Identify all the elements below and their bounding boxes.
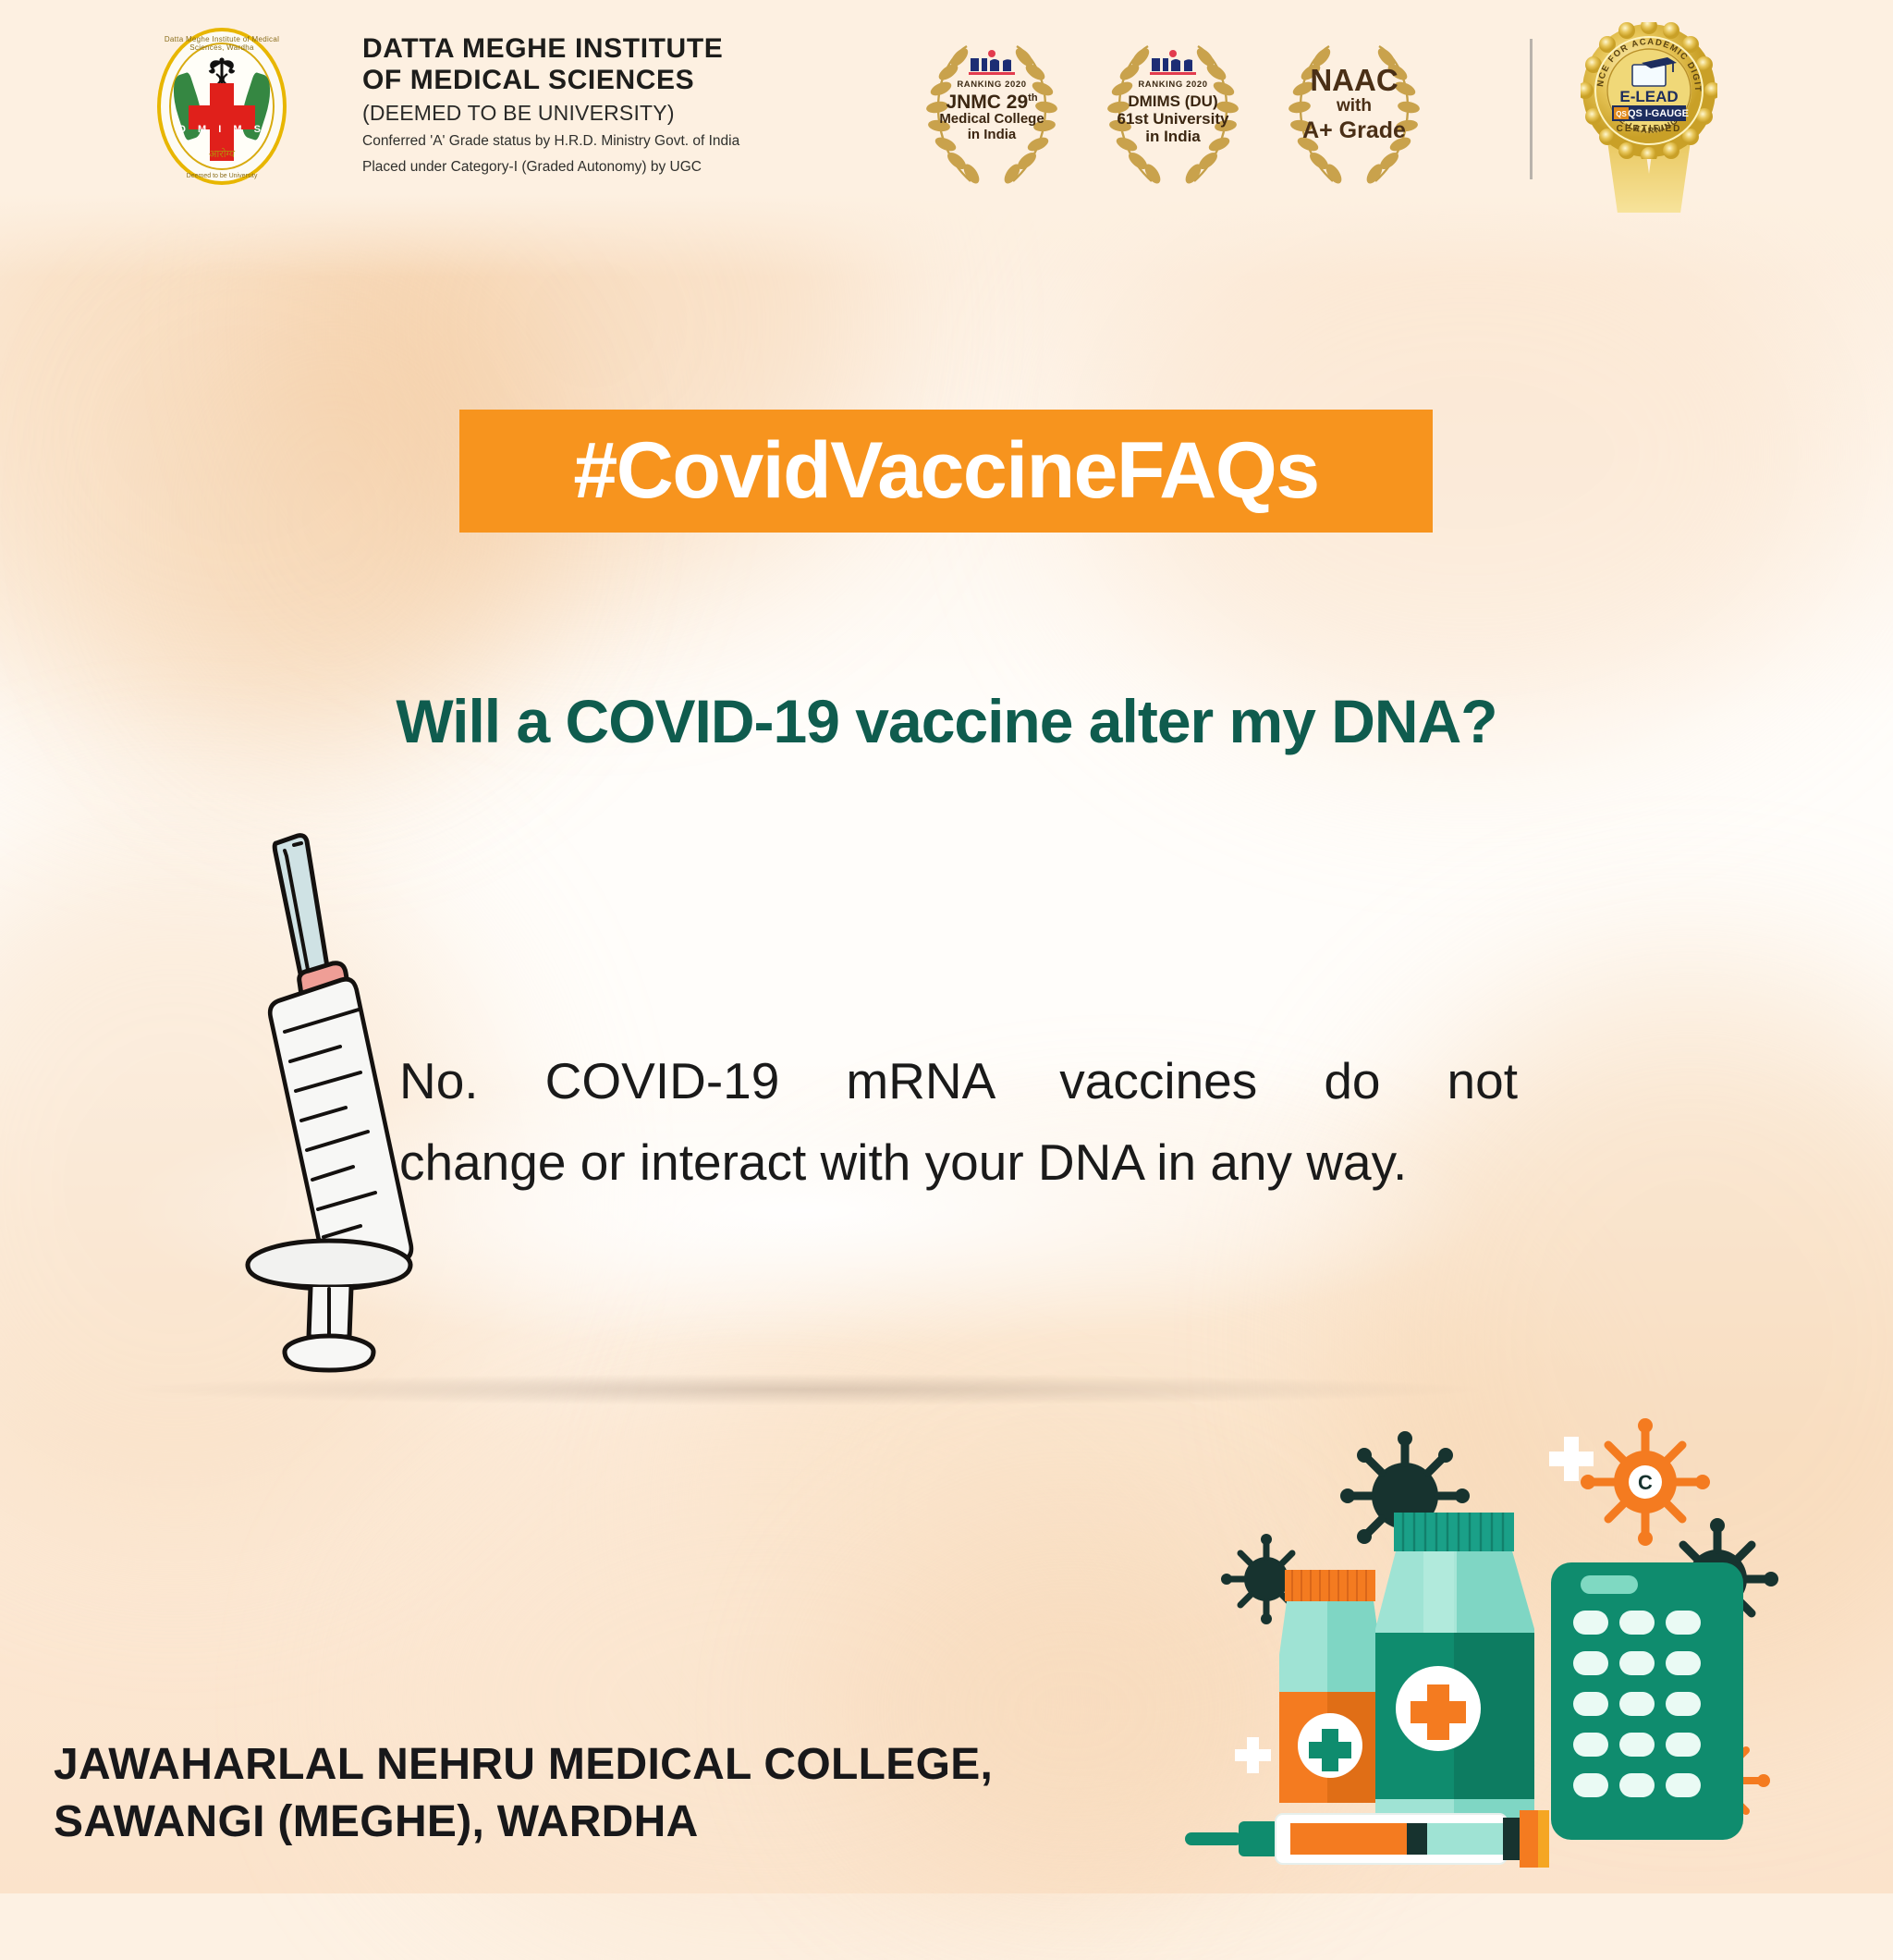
elead-title: E-LEAD	[1619, 88, 1678, 105]
badge-ranking-year: RANKING 2020	[924, 80, 1059, 90]
naac-grade-label: A+ Grade	[1287, 118, 1422, 144]
footer-line-1: JAWAHARLAL NEHRU MEDICAL COLLEGE,	[54, 1736, 993, 1794]
nirf-logo-icon	[963, 50, 1020, 78]
badge-naac: NAAC with A+ Grade	[1268, 26, 1440, 198]
university-name-line2: OF MEDICAL SCIENCES	[362, 65, 843, 96]
naac-label: NAAC	[1287, 65, 1422, 95]
university-name-line1: DATTA MEGHE INSTITUTE	[362, 33, 843, 65]
badge-text-block: NAAC with A+ Grade	[1287, 65, 1422, 143]
accreditation-badges: RANKING 2020 JNMC 29th Medical College i…	[906, 26, 1553, 198]
pill-blister-pack	[1551, 1562, 1743, 1840]
svg-text:QS: QS	[1616, 110, 1627, 118]
crest-initials: D M I M S	[157, 124, 287, 135]
footer-line-2: SAWANGI (MEGHE), WARDHA	[54, 1794, 993, 1851]
badge-nirf-dmims: RANKING 2020 DMIMS (DU) 61st University …	[1087, 26, 1259, 198]
badge-subtitle-2: in India	[924, 128, 1059, 143]
university-crest-logo: Datta Meghe Institute of Medical Science…	[157, 28, 287, 185]
syringe-horizontal	[1185, 1810, 1549, 1868]
answer-line-1: No. COVID-19 mRNA vaccines do not	[399, 1045, 1518, 1117]
medicine-bottle-orange	[1279, 1570, 1381, 1803]
faq-question: Will a COVID-19 vaccine alter my DNA?	[0, 686, 1893, 756]
footer-college-name: JAWAHARLAL NEHRU MEDICAL COLLEGE, SAWANG…	[54, 1736, 993, 1852]
elead-certification-seal: EXCELLENCE FOR ACADEMIC DIGITISATION E-L…	[1571, 17, 1727, 213]
badge-text-block: RANKING 2020 DMIMS (DU) 61st University …	[1105, 50, 1240, 145]
accreditation-line-1: Conferred 'A' Grade status by H.R.D. Min…	[362, 132, 843, 151]
hashtag-banner: #CovidVaccineFAQs	[459, 410, 1433, 533]
medicine-bottle-teal	[1375, 1513, 1534, 1831]
accreditation-line-2: Placed under Category-I (Graded Autonomy…	[362, 158, 843, 177]
university-name-block: DATTA MEGHE INSTITUTE OF MEDICAL SCIENCE…	[362, 33, 843, 177]
badge-subtitle-1: 61st University	[1105, 110, 1240, 128]
syringe-icon	[220, 823, 414, 1396]
badge-subtitle-2: in India	[1105, 128, 1240, 145]
certified-label: CERTIFIED	[1617, 124, 1682, 134]
badge-title-text: JNMC 29	[946, 92, 1028, 113]
answer-line-2: change or interact with your DNA in any …	[399, 1126, 1518, 1198]
syringe-illustration	[220, 823, 414, 1396]
seal-icon: EXCELLENCE FOR ACADEMIC DIGITISATION E-L…	[1581, 22, 1717, 159]
badge-title: DMIMS (DU)	[1105, 92, 1240, 110]
nirf-logo-icon	[1144, 50, 1202, 78]
university-subtitle: (DEEMED TO BE UNIVERSITY)	[362, 101, 843, 126]
badge-title-sup: th	[1028, 92, 1037, 104]
medical-supplies-icon: C C	[1146, 1415, 1793, 1895]
badge-subtitle-1: Medical College	[924, 112, 1059, 128]
virus-particle-orange: C	[1581, 1418, 1710, 1546]
crest-devanagari-bottom: आरोग्य	[157, 147, 287, 161]
crest-arc-bottom-text: Deemed to be University	[157, 173, 287, 179]
virus-letter-label: C	[1638, 1471, 1653, 1494]
header-divider	[1530, 39, 1533, 179]
faq-answer: No. COVID-19 mRNA vaccines do not change…	[399, 1045, 1518, 1198]
naac-with-label: with	[1287, 95, 1422, 118]
medical-supplies-illustration: C C	[1146, 1415, 1793, 1895]
badge-text-block: RANKING 2020 JNMC 29th Medical College i…	[924, 50, 1059, 143]
badge-nirf-jnmc: RANKING 2020 JNMC 29th Medical College i…	[906, 26, 1078, 198]
page-header: Datta Meghe Institute of Medical Science…	[0, 0, 1893, 248]
badge-ranking-year: RANKING 2020	[1105, 80, 1240, 90]
badge-title: JNMC 29th	[924, 92, 1059, 112]
hashtag-text: #CovidVaccineFAQs	[573, 425, 1318, 517]
igauge-brand: QS I-GAUGE	[1628, 108, 1689, 119]
crest-arc-top-text: Datta Meghe Institute of Medical Science…	[157, 35, 287, 52]
